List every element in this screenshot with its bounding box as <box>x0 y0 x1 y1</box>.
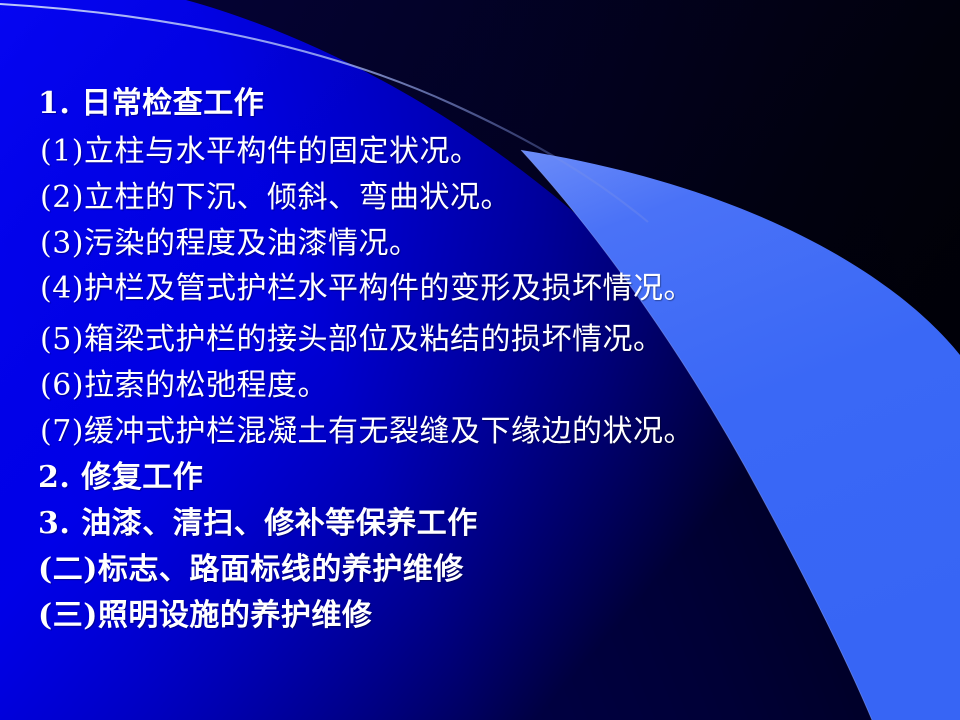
slide-line-11: (二)标志、路面标线的养护维修 <box>38 544 464 588</box>
slide-line-7: (6)拉索的松弛程度。 <box>40 360 328 404</box>
slide-line-3: (2)立柱的下沉、倾斜、弯曲状况。 <box>40 172 511 216</box>
slide-line-6: (5)箱梁式护栏的接头部位及粘结的损坏情况。 <box>40 314 664 358</box>
slide-text-content: 1. 日常检查工作 (1)立柱与水平构件的固定状况。 (2)立柱的下沉、倾斜、弯… <box>0 0 960 720</box>
slide-line-5: (4)护栏及管式护栏水平构件的变形及损坏情况。 <box>40 263 694 307</box>
slide-line-2: (1)立柱与水平构件的固定状况。 <box>40 126 481 170</box>
slide-line-1: 1. 日常检查工作 <box>38 78 264 122</box>
slide-line-8: (7)缓冲式护栏混凝土有无裂缝及下缘边的状况。 <box>40 406 694 450</box>
slide-canvas: 1. 日常检查工作 (1)立柱与水平构件的固定状况。 (2)立柱的下沉、倾斜、弯… <box>0 0 960 720</box>
slide-line-10: 3. 油漆、清扫、修补等保养工作 <box>38 498 478 542</box>
slide-line-4: (3)污染的程度及油漆情况。 <box>40 218 420 262</box>
slide-line-12: (三)照明设施的养护维修 <box>38 590 372 634</box>
slide-line-9: 2. 修复工作 <box>38 452 203 496</box>
